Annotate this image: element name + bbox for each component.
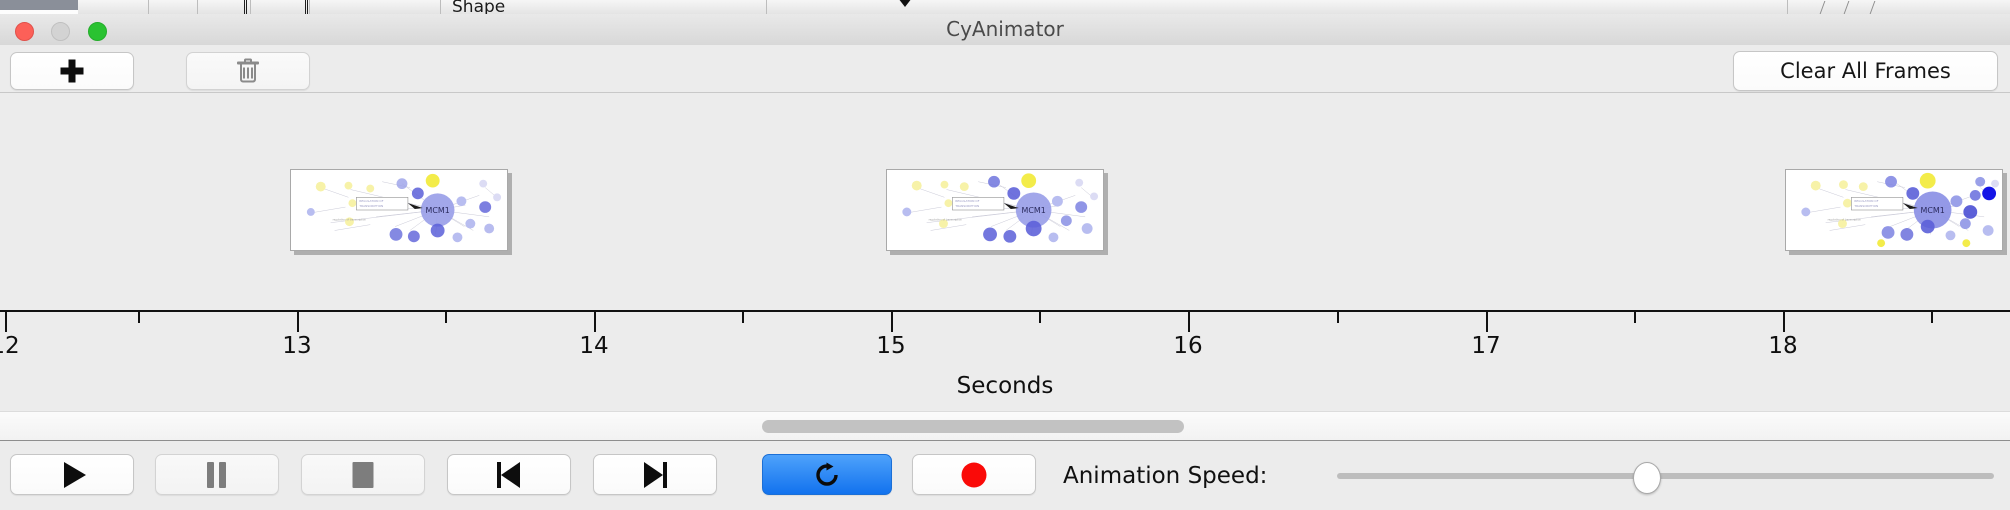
timeline-panel[interactable]: REGULATION OF TRANSCRIPTION MCM1 regulat… (0, 93, 2010, 411)
cyanimator-window: Shape CyAnimator Clear All Frames (0, 0, 2010, 510)
delete-frame-button[interactable] (186, 52, 310, 90)
axis-tick-minor (1337, 312, 1339, 323)
svg-text:MCM1: MCM1 (1921, 206, 1945, 215)
axis-tick-minor (138, 312, 140, 323)
axis-tick-label: 16 (1173, 333, 1202, 359)
skip-to-end-button[interactable] (593, 454, 717, 495)
plus-icon (60, 59, 85, 84)
axis-tick-major (891, 312, 893, 332)
scrollbar-thumb[interactable] (762, 420, 1184, 433)
background-divider (307, 0, 308, 14)
axis-tick-label: 15 (876, 333, 905, 359)
axis-tick-label: 14 (579, 333, 608, 359)
background-column (310, 0, 441, 14)
axis-tick-major (5, 312, 7, 332)
minimize-button[interactable] (51, 22, 70, 41)
background-column (251, 0, 310, 14)
svg-text:MCM1: MCM1 (1022, 206, 1046, 215)
svg-text:regulation of transcription: regulation of transcription (333, 218, 367, 222)
network-thumbnail-image: REGULATION OF TRANSCRIPTION MCM1 regulat… (291, 170, 507, 250)
slider-thumb[interactable] (1633, 462, 1661, 494)
background-divider (305, 0, 306, 14)
axis-tick-major (1783, 312, 1785, 332)
record-button[interactable] (912, 454, 1036, 495)
timeline-axis (0, 310, 2010, 312)
stop-icon (353, 462, 374, 488)
keyframe-thumbnail[interactable]: REGULATION OF TRANSCRIPTION MCM1 regulat… (1785, 169, 2003, 251)
axis-tick-major (1188, 312, 1190, 332)
background-window-sidebar (0, 0, 78, 10)
toolbar: Clear All Frames (0, 45, 2010, 93)
clear-all-frames-label: Clear All Frames (1734, 52, 1997, 90)
title-bar: CyAnimator (0, 14, 2010, 46)
background-sort-arrow-icon (898, 0, 912, 7)
animation-speed-label: Animation Speed: (1063, 442, 1267, 510)
background-divider (244, 0, 245, 14)
axis-tick-major (594, 312, 596, 332)
network-thumbnail-image: REGULATION OF TRANSCRIPTION MCM1 regulat… (887, 170, 1103, 250)
pause-button[interactable] (155, 454, 279, 495)
background-window-strip: Shape (0, 0, 2010, 15)
axis-title: Seconds (0, 373, 2010, 399)
svg-text:regulation of transcription: regulation of transcription (1828, 218, 1862, 222)
play-icon (64, 462, 86, 488)
skip-back-icon (497, 462, 521, 488)
axis-tick-minor (1634, 312, 1636, 323)
svg-text:TRANSCRIPTION: TRANSCRIPTION (358, 204, 383, 208)
animation-speed-slider[interactable] (1337, 442, 1994, 510)
keyframe-thumbnail[interactable]: REGULATION OF TRANSCRIPTION MCM1 regulat… (290, 169, 508, 251)
axis-tick-minor (742, 312, 744, 323)
axis-tick-minor (1931, 312, 1933, 323)
clear-all-frames-button[interactable]: Clear All Frames (1733, 51, 1998, 91)
slider-track[interactable] (1337, 473, 1994, 479)
pause-icon (207, 462, 227, 488)
axis-tick-label: 12 (0, 333, 20, 359)
axis-tick-major (1486, 312, 1488, 332)
timeline-scrollbar[interactable] (0, 411, 2010, 441)
background-column (78, 0, 149, 14)
svg-text:TRANSCRIPTION: TRANSCRIPTION (954, 204, 979, 208)
axis-tick-label: 13 (282, 333, 311, 359)
axis-tick-minor (1039, 312, 1041, 323)
add-frame-button[interactable] (10, 52, 134, 90)
background-divider (246, 0, 247, 14)
record-icon (962, 462, 987, 487)
close-button[interactable] (15, 22, 34, 41)
maximize-button[interactable] (88, 22, 107, 41)
play-button[interactable] (10, 454, 134, 495)
svg-text:MCM1: MCM1 (426, 206, 450, 215)
svg-text:REGULATION OF: REGULATION OF (955, 199, 979, 203)
background-column-header-shape: Shape (452, 0, 505, 15)
stop-button[interactable] (301, 454, 425, 495)
trash-icon (237, 59, 259, 84)
skip-forward-icon (643, 462, 667, 488)
svg-text:REGULATION OF: REGULATION OF (1854, 199, 1878, 203)
svg-text:REGULATION OF: REGULATION OF (359, 199, 383, 203)
svg-text:TRANSCRIPTION: TRANSCRIPTION (1853, 204, 1878, 208)
axis-tick-major (297, 312, 299, 332)
window-title: CyAnimator (0, 14, 2010, 45)
background-column (767, 0, 1788, 14)
svg-text:regulation of transcription: regulation of transcription (929, 218, 963, 222)
axis-tick-label: 18 (1768, 333, 1797, 359)
loop-button[interactable] (762, 454, 892, 495)
loop-icon (814, 462, 840, 488)
axis-tick-label: 17 (1471, 333, 1500, 359)
keyframe-thumbnail[interactable]: REGULATION OF TRANSCRIPTION MCM1 regulat… (886, 169, 1104, 251)
network-thumbnail-image: REGULATION OF TRANSCRIPTION MCM1 regulat… (1786, 170, 2002, 250)
playback-toolbar: Animation Speed: (0, 442, 2010, 510)
background-column (149, 0, 198, 14)
skip-to-start-button[interactable] (447, 454, 571, 495)
axis-tick-minor (445, 312, 447, 323)
